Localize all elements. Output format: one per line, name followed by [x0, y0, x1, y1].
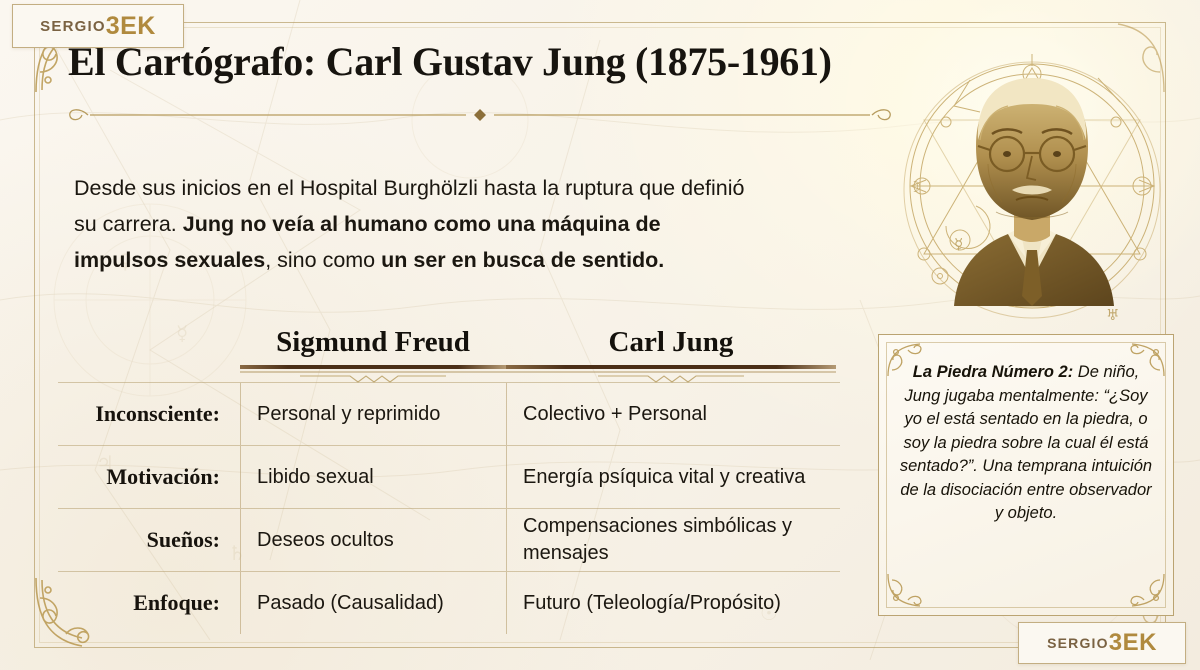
table-cell-freud: Libido sexual: [240, 446, 506, 508]
comparison-table: Sigmund Freud Carl Jung Inconsciente: Pe…: [58, 322, 840, 634]
table-row: Inconsciente: Personal y reprimido Colec…: [58, 382, 840, 445]
quote-corner-ornament-bottom-left: [884, 570, 924, 610]
svg-text:☿: ☿: [954, 235, 963, 253]
table-header-freud-rule: [240, 365, 506, 369]
slide-root: ♀ ☿ ♃ ♄ ☉: [0, 0, 1200, 670]
table-row-label: Enfoque:: [58, 572, 240, 634]
table-cell-jung: Energía psíquica vital y creativa: [506, 446, 836, 508]
table-cell-jung: Colectivo + Personal: [506, 383, 836, 445]
table-header-spacer: [58, 322, 240, 382]
brand-logo-text-secondary: 3EK: [1109, 629, 1157, 657]
brand-logo-text-primary: SERGIO: [1047, 635, 1109, 651]
table-cell-freud: Personal y reprimido: [240, 383, 506, 445]
table-row-label: Motivación:: [58, 446, 240, 508]
title-divider: [62, 104, 898, 126]
brand-logo-top-left[interactable]: SERGIO3EK: [12, 4, 184, 48]
table-row-label: Inconsciente:: [58, 383, 240, 445]
table-header-freud-label: Sigmund Freud: [240, 322, 506, 362]
table-header-jung-rule: [506, 365, 836, 369]
quote-corner-ornament-bottom-right: [1128, 570, 1168, 610]
brand-logo-text-primary: SERGIO: [40, 18, 106, 35]
table-header-jung-label: Carl Jung: [506, 322, 836, 362]
table-row: Sueños: Deseos ocultos Compensaciones si…: [58, 508, 840, 571]
table-header-freud-rule-light: [240, 371, 506, 373]
brand-logo-text-secondary: 3EK: [106, 12, 156, 41]
table-row: Enfoque: Pasado (Causalidad) Futuro (Tel…: [58, 571, 840, 634]
table-header-freud-flourish: [240, 374, 506, 386]
table-cell-freud: Deseos ocultos: [240, 509, 506, 571]
table-cell-jung: Compensaciones simbólicas y mensajes: [506, 509, 836, 571]
quote-card: La Piedra Número 2: De niño, Jung jugaba…: [878, 334, 1174, 616]
jung-portrait-illustration: ☿ ♅ ☽: [884, 44, 1180, 334]
quote-card-text: La Piedra Número 2: De niño, Jung jugaba…: [895, 361, 1157, 526]
table-header-jung: Carl Jung: [506, 322, 836, 382]
intro-segment-4-bold: un ser en busca de sentido.: [381, 248, 664, 272]
table-header-row: Sigmund Freud Carl Jung: [58, 322, 840, 382]
table-header-jung-rule-light: [506, 371, 836, 373]
brand-logo-bottom-right[interactable]: SERGIO3EK: [1018, 622, 1186, 664]
table-row-label: Sueños:: [58, 509, 240, 571]
intro-segment-3: , sino como: [265, 248, 381, 272]
quote-card-title: La Piedra Número 2:: [913, 363, 1073, 381]
table-cell-freud: Pasado (Causalidad): [240, 572, 506, 634]
table-header-jung-flourish: [506, 374, 836, 386]
table-cell-jung: Futuro (Teleología/Propósito): [506, 572, 836, 634]
quote-card-body: De niño, Jung jugaba mentalmente: “¿Soy …: [900, 363, 1152, 522]
table-row: Motivación: Libido sexual Energía psíqui…: [58, 445, 840, 508]
intro-paragraph: Desde sus inicios en el Hospital Burghöl…: [74, 170, 746, 278]
svg-text:☽: ☽: [908, 178, 921, 196]
table-header-freud: Sigmund Freud: [240, 322, 506, 382]
svg-text:♅: ♅: [1106, 306, 1119, 324]
